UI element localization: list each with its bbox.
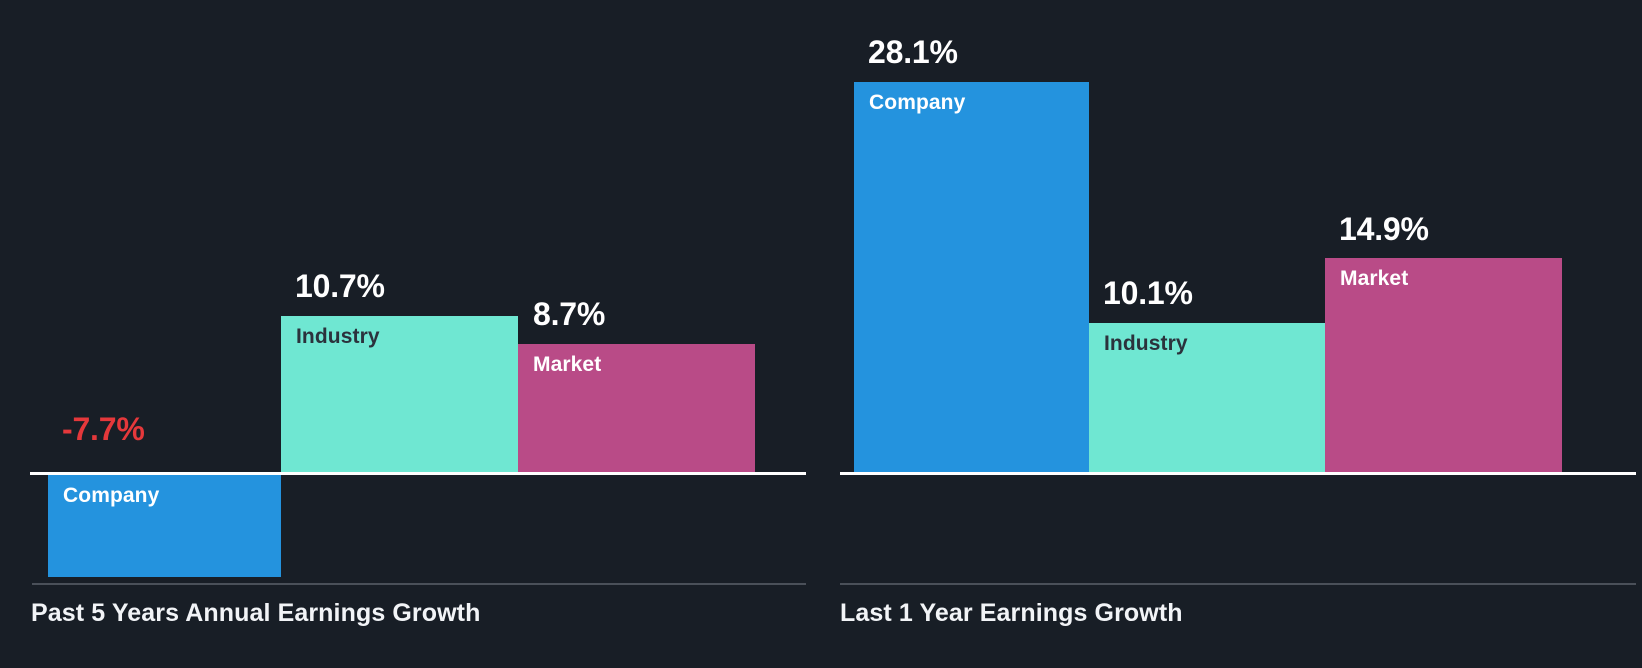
earnings-growth-chart-container: Company -7.7% Industry 10.7% Market 8.7%… xyxy=(0,0,1642,668)
chart-panel-last-1-year: Company 28.1% Industry 10.1% Market 14.9… xyxy=(840,0,1642,668)
chart-panel-past-5-years: Company -7.7% Industry 10.7% Market 8.7%… xyxy=(0,0,806,668)
plot-area-right: Company 28.1% Industry 10.1% Market 14.9… xyxy=(840,0,1642,584)
bar-market-right[interactable]: Market xyxy=(1325,258,1562,474)
chart-title-past-5-years: Past 5 Years Annual Earnings Growth xyxy=(31,583,480,643)
bar-label-market-right: Market xyxy=(1340,267,1408,291)
bar-value-market-right: 14.9% xyxy=(1339,211,1429,248)
bar-label-company-left: Company xyxy=(63,484,159,508)
bar-industry-left[interactable]: Industry xyxy=(281,316,518,474)
chart-title-last-1-year: Last 1 Year Earnings Growth xyxy=(840,583,1183,643)
zero-line-left xyxy=(30,472,806,475)
bar-value-company-left: -7.7% xyxy=(62,411,145,448)
bar-market-left[interactable]: Market xyxy=(518,344,755,474)
bar-value-industry-left: 10.7% xyxy=(295,268,385,305)
bar-value-company-right: 28.1% xyxy=(868,34,958,71)
bar-label-company-right: Company xyxy=(869,91,965,115)
bar-value-market-left: 8.7% xyxy=(533,296,605,333)
zero-line-right xyxy=(840,472,1636,475)
bar-label-market-left: Market xyxy=(533,353,601,377)
bar-value-industry-right: 10.1% xyxy=(1103,275,1193,312)
axis-line-bottom-right xyxy=(840,583,1636,585)
bar-label-industry-right: Industry xyxy=(1104,332,1188,356)
plot-area-left: Company -7.7% Industry 10.7% Market 8.7% xyxy=(0,0,806,584)
bar-label-industry-left: Industry xyxy=(296,325,380,349)
bar-company-left[interactable]: Company xyxy=(48,475,281,577)
bar-company-right[interactable]: Company xyxy=(854,82,1089,474)
bar-industry-right[interactable]: Industry xyxy=(1089,323,1325,474)
axis-line-bottom-left xyxy=(32,583,806,585)
